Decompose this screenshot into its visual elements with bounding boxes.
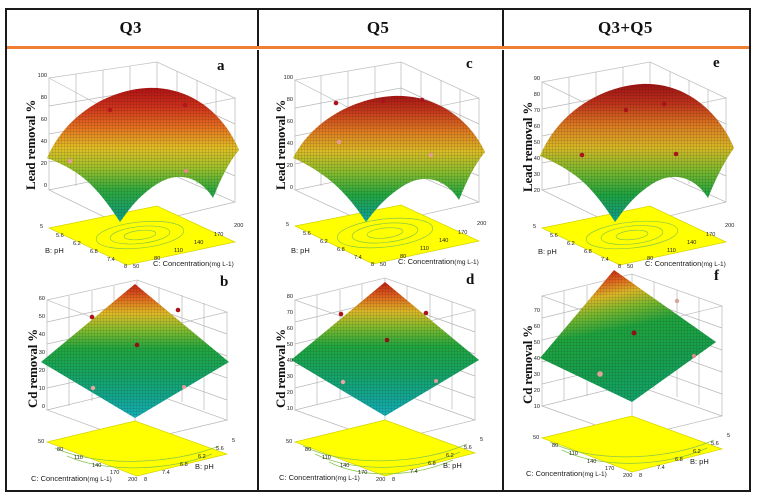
- panel-a-ztick-3: 60: [29, 117, 47, 123]
- panel-d-ztick-0: 10: [275, 406, 293, 412]
- panel-b-ytick-0: 5: [232, 438, 235, 444]
- panel-e-z-title: Lead removal %: [520, 102, 536, 192]
- panel-d-ytick-2: 6.2: [446, 453, 454, 459]
- panel-a-ztick-5: 100: [29, 73, 47, 79]
- panel-a-xtick-4: 7.4: [107, 257, 115, 263]
- panel-a-ytick-2: 110: [174, 248, 183, 254]
- panel-f-xtick-1: 80: [552, 443, 558, 449]
- panel-f-xtick-2: 110: [569, 451, 578, 457]
- panel-b-ztick-5: 50: [27, 314, 45, 320]
- panel-f-ztick-6: 70: [522, 308, 540, 314]
- panel-b-plot: b Cd removal % 60 50 40 30 20 10 0 50 80…: [7, 270, 257, 490]
- panel-e-ytick-3: 140: [687, 240, 696, 246]
- panel-d-xtick-0: 50: [286, 439, 292, 445]
- panel-c-ytick-5: 200: [477, 221, 486, 227]
- panel-a-xtick-0: 5: [40, 224, 43, 230]
- panel-e-floor: [542, 206, 726, 265]
- panel-c-ztick-2: 40: [275, 141, 293, 147]
- panel-d-ytick-5: 8: [392, 477, 395, 483]
- accent-rule: [7, 46, 749, 49]
- panel-f-ytick-0: 5: [727, 433, 730, 439]
- panel-d-y-title: B: pH: [443, 461, 462, 470]
- panel-b-ytick-4: 7.4: [162, 470, 170, 476]
- panel-c-ztick-5: 100: [275, 75, 293, 81]
- panel-e-ytick-5: 200: [725, 223, 734, 229]
- panel-f-ytick-1: 5.6: [711, 441, 719, 447]
- panel-e-xtick-4: 7.4: [601, 257, 609, 263]
- panel-f: f Cd removal % 70 60 50 40 30 20 10 50 8…: [504, 270, 749, 490]
- panel-b-xtick-1: 80: [57, 447, 63, 453]
- panel-b-surface-svg: [7, 270, 257, 490]
- panel-f-plot: f Cd removal % 70 60 50 40 30 20 10 50 8…: [504, 270, 749, 490]
- panel-e-letter: e: [713, 55, 720, 72]
- panel-f-ytick-2: 6.2: [693, 449, 701, 455]
- panel-a-ztick-1: 20: [29, 161, 47, 167]
- panel-d-xtick-5: 200: [376, 477, 385, 483]
- panel-b-ytick-3: 6.8: [180, 462, 188, 468]
- panel-e-ytick-4: 170: [706, 232, 715, 238]
- panel-e-ztick-4: 60: [522, 124, 540, 130]
- panel-d-ytick-3: 6.8: [428, 461, 436, 467]
- panel-d-plot: d Cd removal % 80 70 60 50 40 30 20 10 5…: [259, 270, 502, 490]
- panel-c-x-title: B: pH: [291, 246, 310, 255]
- panel-a-floor: [49, 206, 235, 265]
- panel-c-xtick-4: 7.4: [354, 255, 362, 261]
- panel-c-surface-svg: [259, 50, 502, 270]
- panel-d-x-title: C: Concentration(mg L-1): [279, 473, 360, 482]
- panel-a-y-title: C: Concentration(mg L-1): [153, 259, 234, 268]
- panel-f-y-title: B: pH: [690, 457, 709, 466]
- panel-c-ztick-0: 0: [275, 185, 293, 191]
- panel-e-ztick-0: 20: [522, 188, 540, 194]
- panel-f-ztick-5: 60: [522, 324, 540, 330]
- column-title-q5: Q5: [367, 18, 389, 38]
- panel-a-xtick-2: 6.2: [73, 241, 81, 247]
- panel-f-letter: f: [714, 268, 719, 285]
- panel-b-xtick-0: 50: [38, 439, 44, 445]
- panel-c-plot: c Lead removal % 100 80 60 40 20 0 5 5.6…: [259, 50, 502, 270]
- panel-d-z-title: Cd removal %: [273, 329, 289, 408]
- panel-a-ytick-4: 170: [214, 232, 223, 238]
- panel-e-y-title: C: Concentration(mg L-1): [645, 259, 726, 268]
- panel-f-surface-svg: [504, 270, 749, 490]
- panel-e-ztick-7: 90: [522, 76, 540, 82]
- panel-c-ztick-3: 60: [275, 119, 293, 125]
- panel-e-x-title: B: pH: [538, 247, 557, 256]
- panel-b-ytick-2: 6.2: [198, 454, 206, 460]
- panel-e-xtick-3: 6.8: [584, 249, 592, 255]
- column-header-q3: Q3: [7, 10, 254, 46]
- panel-d-ztick-2: 30: [275, 374, 293, 380]
- panel-a-ytick-5: 200: [234, 223, 243, 229]
- panel-d-ztick-3: 40: [275, 358, 293, 364]
- panel-e-ztick-1: 30: [522, 172, 540, 178]
- panel-b-y-title: B: pH: [195, 462, 214, 471]
- panel-b-ytick-1: 5.6: [216, 446, 224, 452]
- column-title-q3: Q3: [120, 18, 142, 38]
- panel-b-x-title: C: Concentration(mg L-1): [31, 474, 112, 483]
- panel-c-ytick-0: 50: [380, 262, 386, 268]
- panel-f-xtick-0: 50: [533, 435, 539, 441]
- panel-a-ytick-3: 140: [194, 240, 203, 246]
- column-header-q3q5: Q3+Q5: [502, 10, 749, 46]
- panel-d: d Cd removal % 80 70 60 50 40 30 20 10 5…: [259, 270, 502, 490]
- panel-a-ztick-4: 80: [29, 95, 47, 101]
- panel-c-xtick-0: 5: [286, 222, 289, 228]
- panel-d-letter: d: [466, 272, 474, 289]
- panel-c: c Lead removal % 100 80 60 40 20 0 5 5.6…: [259, 50, 502, 270]
- panel-c-xtick-1: 5.6: [303, 231, 311, 237]
- panel-d-ztick-7: 80: [275, 294, 293, 300]
- panel-e-ztick-3: 50: [522, 140, 540, 146]
- panel-d-ytick-4: 7.4: [410, 469, 418, 475]
- panel-a: a Lead removal % 100 80 60 40 20 0 5 5.6…: [7, 50, 257, 270]
- panel-d-ztick-1: 20: [275, 390, 293, 396]
- panel-b-ytick-5: 8: [144, 477, 147, 483]
- panel-e-xtick-1: 5.6: [550, 233, 558, 239]
- panel-f-ztick-3: 40: [522, 356, 540, 362]
- panel-f-ztick-1: 20: [522, 388, 540, 394]
- panel-e-ytick-2: 110: [667, 248, 676, 254]
- panel-c-floor: [295, 205, 479, 264]
- header-divider-2: [502, 10, 504, 46]
- panel-d-ztick-6: 70: [275, 310, 293, 316]
- panel-b-xtick-5: 200: [128, 477, 137, 483]
- panel-d-xtick-2: 110: [322, 455, 331, 461]
- panel-b-ztick-1: 10: [27, 386, 45, 392]
- panel-d-ytick-1: 5.6: [464, 445, 472, 451]
- panel-a-xtick-3: 6.8: [90, 249, 98, 255]
- panel-c-xtick-5: 8: [371, 262, 374, 268]
- panel-b-ztick-4: 40: [27, 332, 45, 338]
- panel-d-ztick-5: 60: [275, 326, 293, 332]
- panel-b-ztick-2: 20: [27, 368, 45, 374]
- panel-f-xtick-3: 140: [587, 459, 596, 465]
- panel-a-plot: a Lead removal % 100 80 60 40 20 0 5 5.6…: [7, 50, 257, 270]
- panel-f-x-title: C: Concentration(mg L-1): [526, 469, 607, 478]
- response-surface-figure: Q3 Q5 Q3+Q5: [0, 0, 758, 499]
- panel-c-ztick-4: 80: [275, 97, 293, 103]
- panel-a-ztick-2: 40: [29, 139, 47, 145]
- panel-f-ytick-3: 6.8: [675, 457, 683, 463]
- panel-c-xtick-2: 6.2: [320, 239, 328, 245]
- panel-d-ztick-4: 50: [275, 342, 293, 348]
- panel-e-xtick-2: 6.2: [567, 241, 575, 247]
- panel-e-ztick-5: 70: [522, 108, 540, 114]
- panel-d-surface-svg: [259, 270, 502, 490]
- panel-f-ztick-2: 30: [522, 372, 540, 378]
- panel-c-dome: [293, 96, 485, 222]
- header-divider-1: [257, 10, 259, 46]
- panel-c-ytick-4: 170: [458, 230, 467, 236]
- panel-e: e Lead removal % 90 80 70 60 50 40 30 20…: [504, 50, 749, 270]
- panel-a-letter: a: [217, 58, 225, 75]
- column-title-q3q5: Q3+Q5: [598, 18, 653, 38]
- panel-d-ytick-0: 5: [480, 437, 483, 443]
- panel-e-plot: e Lead removal % 90 80 70 60 50 40 30 20…: [504, 50, 749, 270]
- panel-f-ztick-4: 50: [522, 340, 540, 346]
- panel-b-xtick-3: 140: [92, 463, 101, 469]
- panel-b: b Cd removal % 60 50 40 30 20 10 0 50 80…: [7, 270, 257, 490]
- panel-f-ytick-4: 7.4: [657, 465, 665, 471]
- panel-a-ztick-0: 0: [29, 183, 47, 189]
- column-header-band: Q3 Q5 Q3+Q5: [7, 10, 749, 46]
- panel-b-ztick-3: 30: [27, 350, 45, 356]
- panel-c-letter: c: [466, 56, 473, 73]
- panel-c-y-title: C: Concentration(mg L-1): [398, 257, 479, 266]
- panel-d-xtick-1: 80: [305, 447, 311, 453]
- panel-c-ytick-3: 140: [439, 238, 448, 244]
- panel-c-ztick-1: 20: [275, 163, 293, 169]
- panel-f-ytick-5: 8: [639, 473, 642, 479]
- panel-b-letter: b: [220, 274, 228, 291]
- panel-e-ztick-2: 40: [522, 156, 540, 162]
- panel-f-ztick-0: 10: [522, 404, 540, 410]
- panel-d-xtick-3: 140: [340, 463, 349, 469]
- panel-c-ytick-2: 110: [420, 246, 429, 252]
- panel-b-xtick-2: 110: [74, 455, 83, 461]
- panel-d-plane: [291, 282, 479, 416]
- panel-e-ztick-6: 80: [522, 92, 540, 98]
- panel-b-ztick-0: 0: [27, 404, 45, 410]
- panel-c-xtick-3: 6.8: [337, 247, 345, 253]
- panel-b-ztick-6: 60: [27, 296, 45, 302]
- panel-e-xtick-0: 5: [533, 224, 536, 230]
- panel-a-x-title: B: pH: [45, 246, 64, 255]
- panel-f-xtick-5: 200: [623, 473, 632, 479]
- column-header-q5: Q5: [254, 10, 501, 46]
- panel-a-xtick-1: 5.6: [56, 233, 64, 239]
- panel-grid: a Lead removal % 100 80 60 40 20 0 5 5.6…: [7, 50, 749, 490]
